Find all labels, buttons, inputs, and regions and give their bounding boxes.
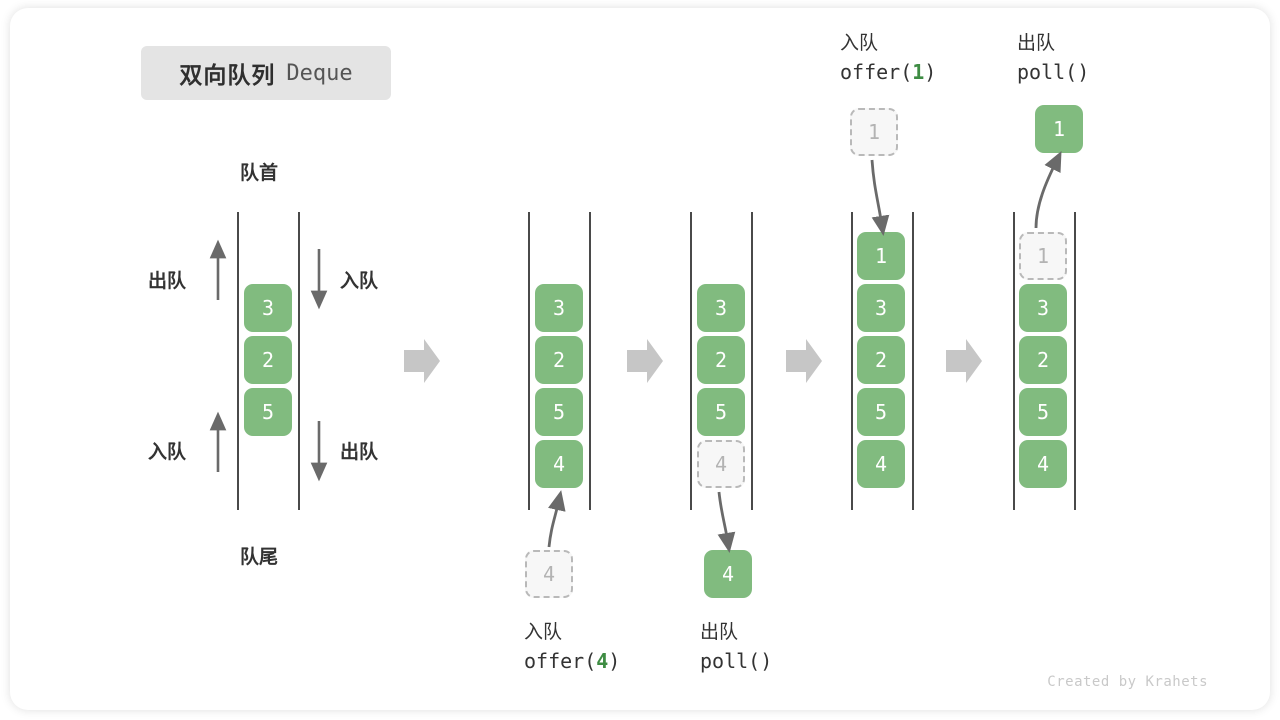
external-cell-panel-5: 1 — [1035, 105, 1083, 153]
op-label-poll-rear: 出队 poll() — [700, 620, 772, 675]
cell-panel-4-2: 2 — [857, 336, 905, 384]
title-english: Deque — [286, 61, 352, 86]
label-left-top-dequeue: 出队 — [148, 266, 186, 293]
label-right-top-enqueue: 入队 — [340, 266, 378, 293]
cell-panel-4-3: 5 — [857, 388, 905, 436]
rail-left-panel-3 — [690, 212, 692, 510]
op-label-offer-1-cn: 入队 — [840, 31, 936, 58]
op-label-offer-1-code: offer(1) — [840, 58, 936, 86]
cell-panel-3-0: 3 — [697, 284, 745, 332]
cell-panel-3-1: 2 — [697, 336, 745, 384]
op-label-offer-1: 入队 offer(1) — [840, 31, 936, 86]
cell-panel-5-2: 2 — [1019, 336, 1067, 384]
cell-panel-2-1: 2 — [535, 336, 583, 384]
external-cell-panel-4: 1 — [850, 108, 898, 156]
cell-panel-5-1: 3 — [1019, 284, 1067, 332]
title-chinese: 双向队列 — [179, 56, 275, 90]
cell-panel-3-3-ghost: 4 — [697, 440, 745, 488]
cell-panel-1-1: 2 — [244, 336, 292, 384]
external-cell-panel-2: 4 — [525, 550, 573, 598]
op-label-offer-4-cn: 入队 — [524, 620, 620, 647]
diagram-canvas: 双向队列 Deque 队首 队尾 出队 入队 入队 出队 入队 offer(4)… — [0, 0, 1280, 720]
cell-panel-4-1: 3 — [857, 284, 905, 332]
cell-panel-4-4: 4 — [857, 440, 905, 488]
op-label-poll-front-code: poll() — [1017, 58, 1089, 86]
title-badge: 双向队列 Deque — [141, 46, 391, 100]
cell-panel-5-4: 4 — [1019, 440, 1067, 488]
op-label-offer-4-code: offer(4) — [524, 647, 620, 675]
rail-left-panel-2 — [528, 212, 530, 510]
op-label-offer-4: 入队 offer(4) — [524, 620, 620, 675]
rail-right-panel-1 — [298, 212, 300, 510]
rail-left-panel-5 — [1013, 212, 1015, 510]
rail-right-panel-3 — [751, 212, 753, 510]
footer-credit: Created by Krahets — [1047, 674, 1208, 690]
cell-panel-2-2: 5 — [535, 388, 583, 436]
cell-panel-3-2: 5 — [697, 388, 745, 436]
cell-panel-1-2: 5 — [244, 388, 292, 436]
op-label-poll-rear-cn: 出队 — [700, 620, 772, 647]
label-left-bottom-enqueue: 入队 — [148, 437, 186, 464]
external-cell-panel-3: 4 — [704, 550, 752, 598]
cell-panel-4-0: 1 — [857, 232, 905, 280]
label-front: 队首 — [240, 158, 278, 185]
cell-panel-1-0: 3 — [244, 284, 292, 332]
cell-panel-5-0-ghost: 1 — [1019, 232, 1067, 280]
rail-right-panel-2 — [589, 212, 591, 510]
rail-left-panel-4 — [851, 212, 853, 510]
cell-panel-5-3: 5 — [1019, 388, 1067, 436]
label-right-bottom-dequeue: 出队 — [340, 437, 378, 464]
rail-right-panel-5 — [1074, 212, 1076, 510]
cell-panel-2-3: 4 — [535, 440, 583, 488]
op-label-poll-front: 出队 poll() — [1017, 31, 1089, 86]
rail-right-panel-4 — [912, 212, 914, 510]
op-label-poll-front-cn: 出队 — [1017, 31, 1089, 58]
cell-panel-2-0: 3 — [535, 284, 583, 332]
label-rear: 队尾 — [240, 542, 278, 569]
rail-left-panel-1 — [237, 212, 239, 510]
op-label-poll-rear-code: poll() — [700, 647, 772, 675]
